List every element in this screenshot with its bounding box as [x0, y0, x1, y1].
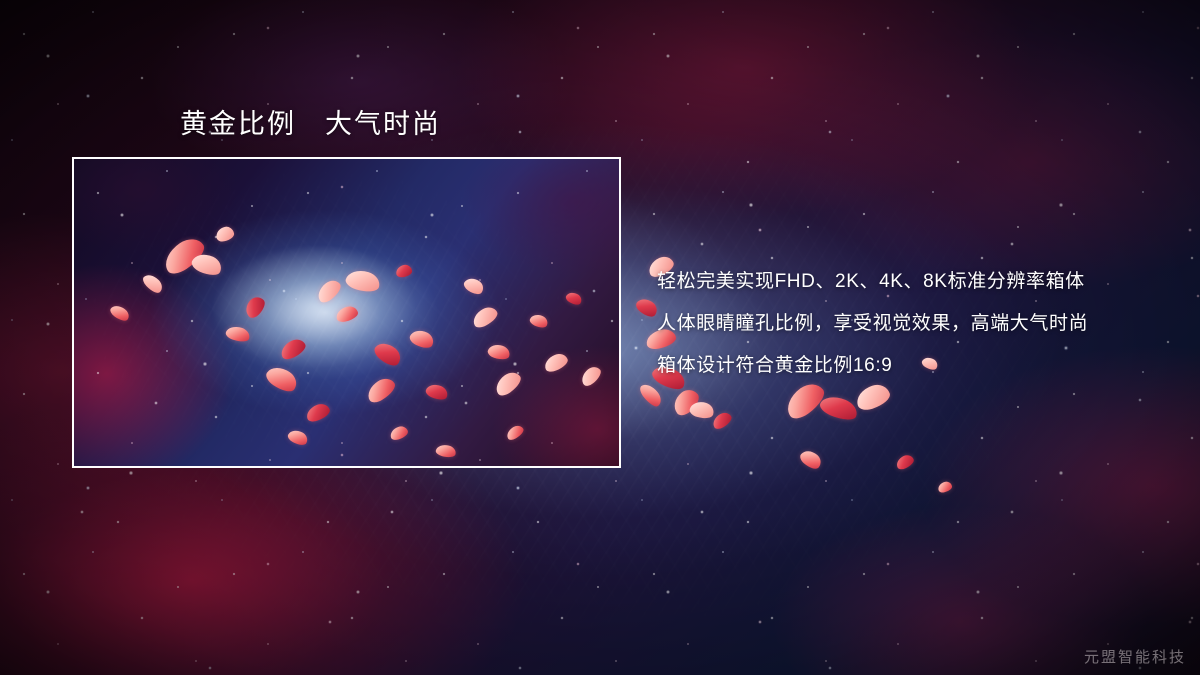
- presentation-slide: 黄金比例 大气时尚 轻松完美实现FHD、2K、4K、8K标准分辨率箱体 人体眼睛…: [0, 0, 1200, 675]
- watermark: 元盟智能科技: [1084, 646, 1186, 667]
- page-title: 黄金比例 大气时尚: [180, 102, 441, 141]
- framed-image: [72, 157, 621, 468]
- description-block: 轻松完美实现FHD、2K、4K、8K标准分辨率箱体 人体眼睛瞳孔比例，享受视觉效…: [657, 261, 1127, 387]
- description-line-2: 人体眼睛瞳孔比例，享受视觉效果，高端大气时尚: [657, 303, 1127, 345]
- description-line-1: 轻松完美实现FHD、2K、4K、8K标准分辨率箱体: [657, 261, 1127, 303]
- description-line-3: 箱体设计符合黄金比例16:9: [657, 345, 1127, 387]
